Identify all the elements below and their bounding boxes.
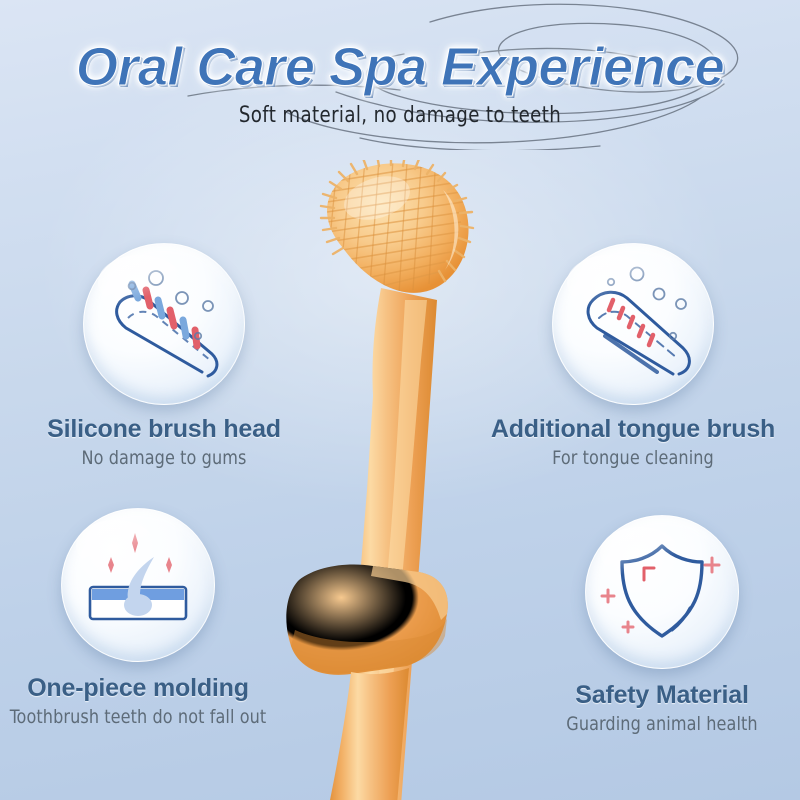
page-subtitle: Soft material, no damage to teeth [32, 103, 768, 128]
feature-title: One-piece molding [0, 674, 276, 703]
feature-title: Safety Material [524, 681, 800, 710]
feature-subtitle: Toothbrush teeth do not fall out [8, 706, 267, 728]
tongue-brush-icon [552, 243, 714, 405]
one-piece-molding-icon [61, 508, 215, 662]
feature-title: Silicone brush head [4, 415, 324, 444]
feature-subtitle: Guarding animal health [532, 713, 791, 735]
feature-one-piece-molding: One-piece molding Toothbrush teeth do no… [0, 508, 276, 728]
feature-silicone-brush-head: Silicone brush head No damage to gums [4, 243, 324, 469]
feature-subtitle: No damage to gums [14, 447, 315, 469]
toothbrush-bristles-icon [83, 243, 245, 405]
product-infographic-poster: Oral Care Spa Experience Soft material, … [0, 0, 800, 800]
feature-title: Additional tongue brush [468, 415, 798, 444]
safety-shield-icon [585, 515, 739, 669]
header: Oral Care Spa Experience Soft material, … [0, 0, 800, 150]
feature-subtitle: For tongue cleaning [478, 447, 788, 469]
silicone-brush-head [321, 160, 473, 300]
page-title: Oral Care Spa Experience [0, 36, 800, 98]
feature-safety-material: Safety Material Guarding animal health [524, 515, 800, 735]
feature-additional-tongue-brush: Additional tongue brush For tongue clean… [468, 243, 798, 469]
